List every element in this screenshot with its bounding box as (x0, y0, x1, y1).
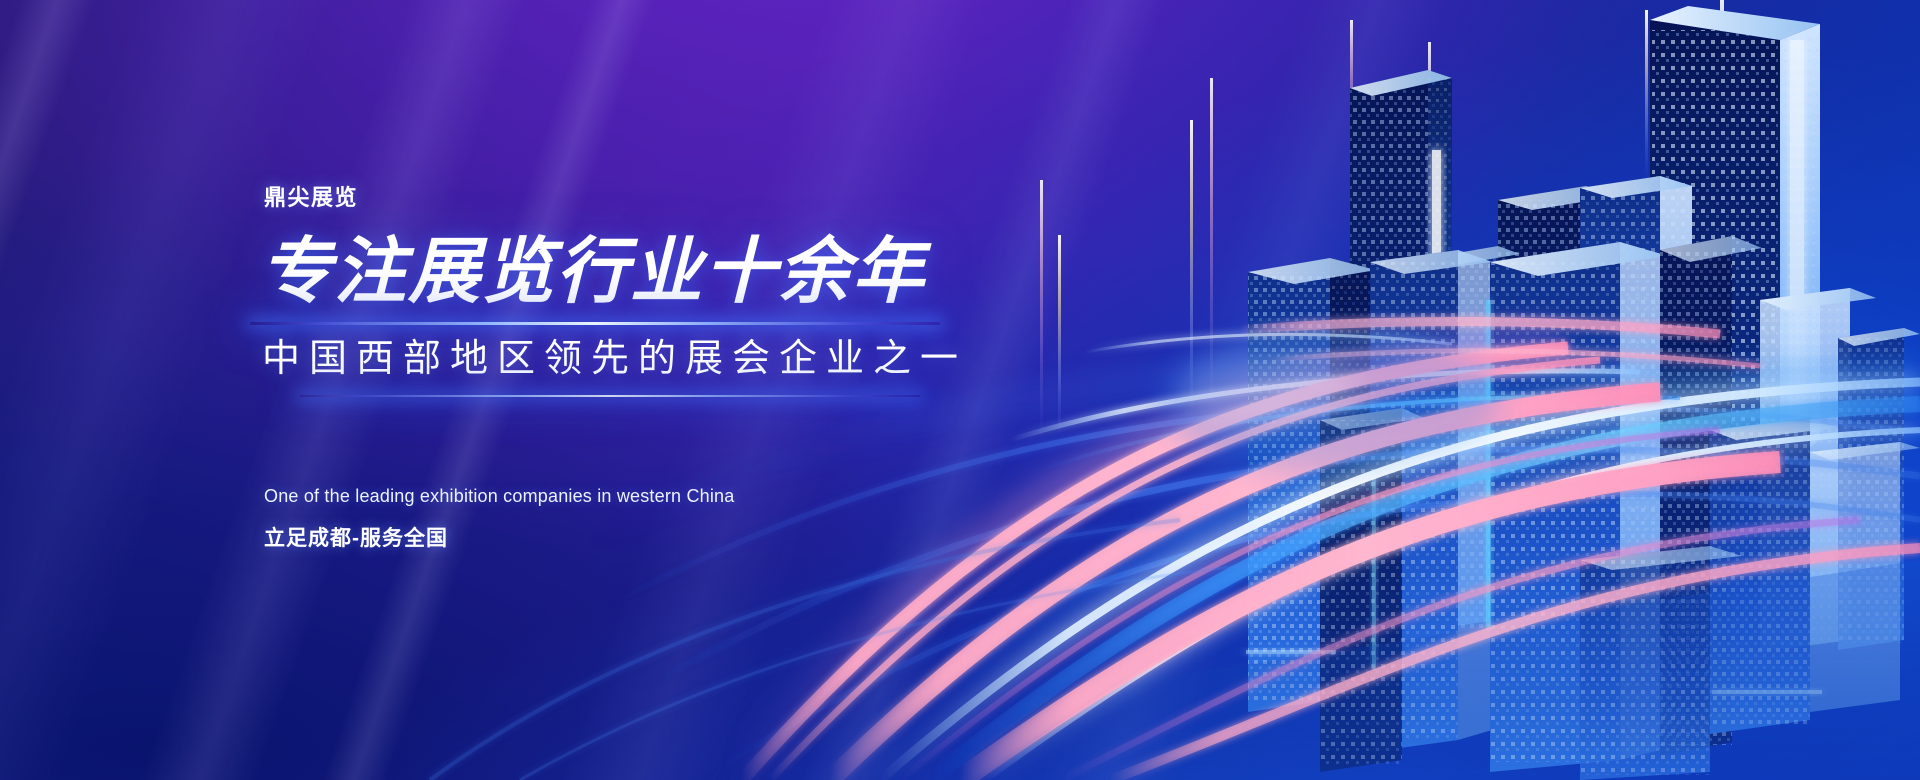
headline-text-block: 鼎尖展览 专注展览行业十余年 中国西部地区领先的展会企业之一 One of th… (0, 0, 1000, 780)
brand-name: 鼎尖展览 (264, 180, 358, 212)
company-slogan: 立足成都-服务全国 (264, 522, 448, 552)
promo-banner: 鼎尖展览 专注展览行业十余年 中国西部地区领先的展会企业之一 One of th… (0, 0, 1920, 780)
page-subtitle: 中国西部地区领先的展会企业之一 (262, 340, 967, 378)
english-tagline: One of the leading exhibition companies … (264, 486, 734, 507)
glow-divider-line-primary (250, 322, 940, 325)
page-title: 专注展览行业十余年 (260, 236, 926, 308)
trail-hotspot (1160, 328, 1500, 472)
glow-divider-line-secondary (300, 395, 920, 397)
